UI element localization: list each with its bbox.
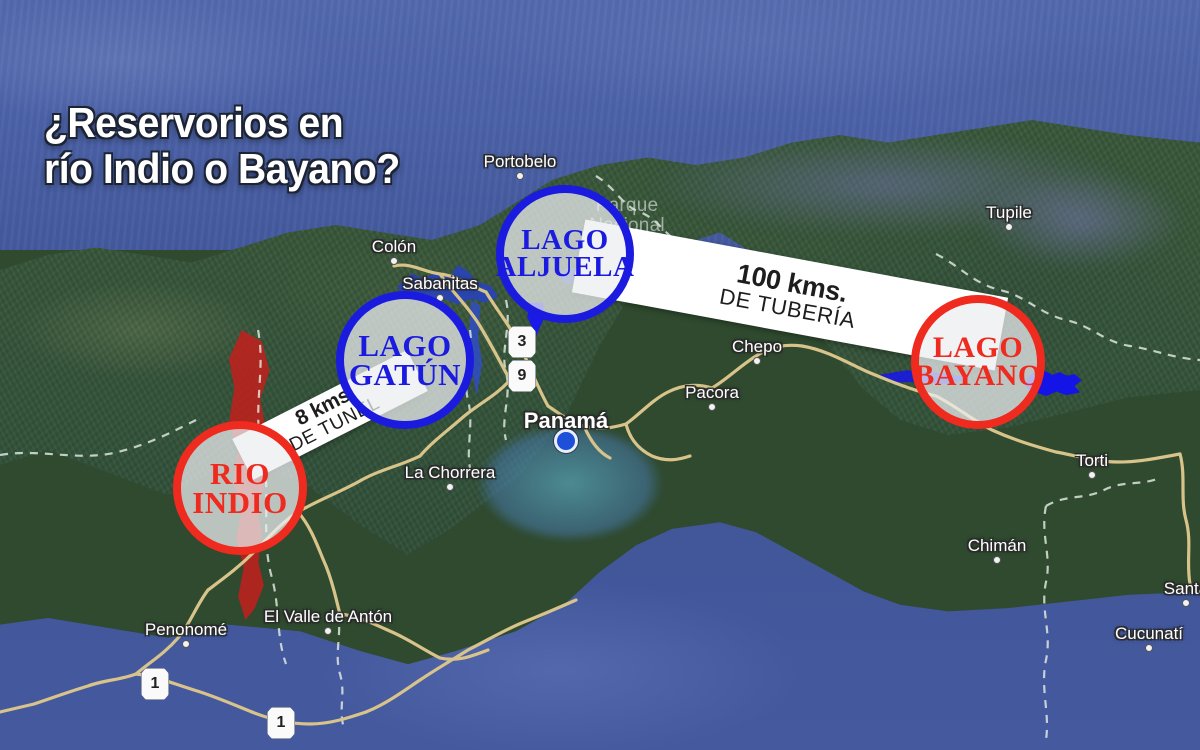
node-rio-indio-line1: RIO [210, 459, 270, 488]
node-lago-aljuela-line1: LAGO [521, 227, 608, 254]
highway-shield: 9 [508, 360, 536, 392]
map-infographic: Parque Nacional Chagres PortobeloColónSa… [0, 0, 1200, 750]
node-lago-aljuela-line2: ALJUELA [496, 254, 635, 281]
node-lago-bayano-line1: LAGO [933, 334, 1023, 362]
node-lago-bayano-line2: BAYANO [914, 362, 1042, 390]
node-lago-gatun: LAGO GATÚN [336, 291, 474, 429]
highway-shield: 1 [267, 707, 295, 739]
node-lago-gatun-line2: GATÚN [349, 360, 461, 389]
page-title: ¿Reservorios en río Indio o Bayano? [44, 100, 400, 192]
node-lago-gatun-line1: LAGO [358, 331, 451, 360]
node-rio-indio: RIO INDIO [173, 421, 307, 555]
node-lago-bayano: LAGO BAYANO [911, 295, 1045, 429]
highway-shield: 1 [141, 668, 169, 700]
highway-shield: 3 [508, 326, 536, 358]
node-lago-aljuela: LAGO ALJUELA [496, 185, 634, 323]
node-rio-indio-line2: INDIO [192, 488, 288, 517]
